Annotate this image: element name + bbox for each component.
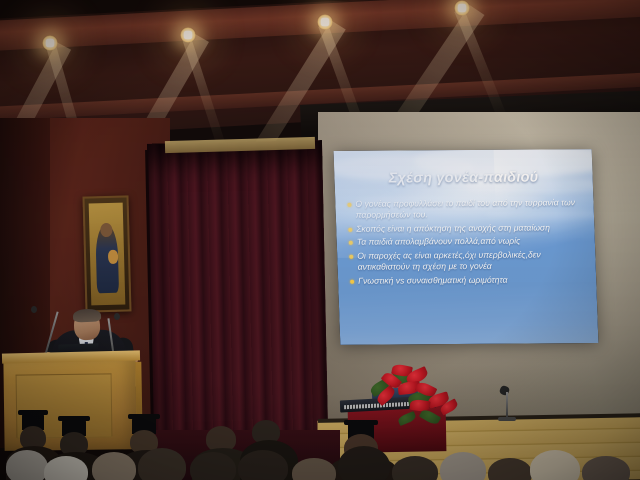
audience-head [44,456,88,480]
ceiling-spotlight [317,14,333,30]
spotlight-core [46,39,54,47]
bullet-dot-icon [347,203,351,207]
audience-head [138,448,186,480]
ceiling-spotlight [454,0,470,16]
icon-child-figure [108,250,118,264]
audience-head [440,452,486,480]
bullet-dot-icon [349,255,353,259]
audience-head [92,452,136,480]
audience-head [530,450,580,480]
slide-bullet: Ο γονέας προφυλλάσει το παιδί του από τη… [347,197,584,220]
bullet-dot-icon [349,241,353,245]
slide-bullet: Οι παροχές ας είναι αρκετές,όχι υπερβολι… [349,249,586,272]
slide-bullet-text: Γνωστική vs συναισθηματική ωριμότητα [358,274,586,286]
stage-curtain [147,140,328,436]
ceiling-spotlight [180,27,196,43]
slide-bullet: Σκοπός είναι η απόκτηση της ανοχής στη μ… [348,222,584,234]
projection-screen: Σχέση γονέα-παιδιού Ο γονέας προφυλλάσει… [334,149,599,345]
slide-bullet-text: Σκοπός είναι η απόκτηση της ανοχής στη μ… [356,222,584,234]
podium-mic-head-icon [114,313,120,320]
slide-bullet-text: Τα παιδιά απολαμβάνουν πολλά,από νωρίς [357,236,585,248]
audience-head [292,458,336,480]
orthodox-icon-panel [89,203,126,306]
slide-bullet-text: Ο γονέας προφυλλάσει το παιδί του από τη… [355,197,584,220]
photo-scene: Σχέση γονέα-παιδιού Ο γονέας προφυλλάσει… [0,0,640,480]
orthodox-icon-frame [82,195,131,312]
microphone-base [498,417,516,421]
microphone-stand [506,392,508,420]
slide-bullet-list: Ο γονέας προφυλλάσει το παιδί του από τη… [347,197,586,289]
bullet-dot-icon [350,280,354,284]
slide-bullet: Τα παιδιά απολαμβάνουν πολλά,από νωρίς [349,236,585,248]
audience-head [582,456,630,480]
audience-head [190,452,236,480]
bullet-dot-icon [348,227,352,231]
spotlight-core [184,31,192,39]
audience-head [338,446,390,480]
audience-head [392,456,438,480]
podium-mic-head-icon [31,306,37,313]
presentation-slide: Σχέση γονέα-παιδιού Ο γονέας προφυλλάσει… [334,149,599,345]
speaker-hair [73,309,101,323]
spotlight-core [321,18,329,26]
slide-bullet: Γνωστική vs συναισθηματική ωριμότητα [350,274,586,286]
audience-head [488,458,532,480]
spotlight-core [458,4,466,12]
slide-title: Σχέση γονέα-παιδιού [334,169,593,187]
audience-head [238,450,288,480]
slide-bullet-text: Οι παροχές ας είναι αρκετές,όχι υπερβολι… [357,249,586,272]
ceiling-spotlight [42,35,58,51]
audience-head [6,450,48,480]
